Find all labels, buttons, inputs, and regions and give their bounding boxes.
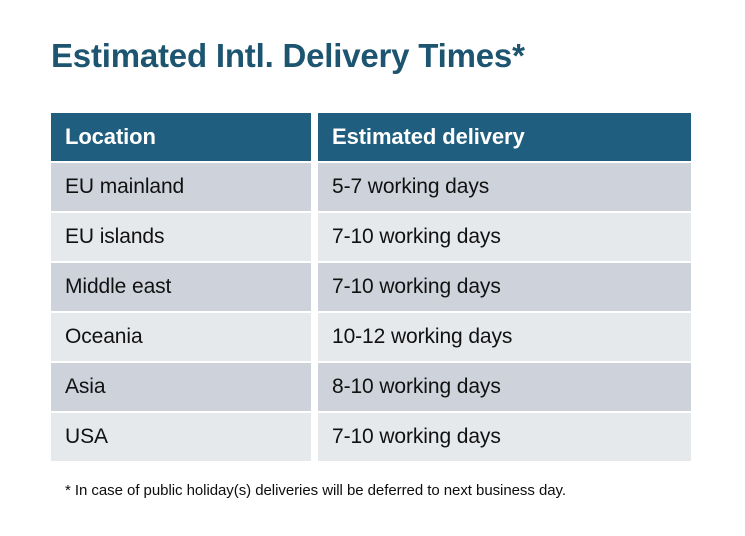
table-row: EU mainland 5-7 working days	[51, 163, 691, 211]
column-divider	[311, 363, 318, 411]
column-header-estimated-delivery: Estimated delivery	[318, 113, 691, 161]
cell-delivery: 7-10 working days	[318, 263, 691, 311]
column-divider	[311, 213, 318, 261]
column-divider	[311, 413, 318, 461]
delivery-times-infographic: Estimated Intl. Delivery Times* Location…	[0, 0, 745, 536]
cell-location: EU mainland	[51, 163, 311, 211]
table-row: Middle east 7-10 working days	[51, 263, 691, 311]
cell-location: EU islands	[51, 213, 311, 261]
table-row: Oceania 10-12 working days	[51, 313, 691, 361]
page-title: Estimated Intl. Delivery Times*	[51, 36, 525, 76]
cell-delivery: 10-12 working days	[318, 313, 691, 361]
table-row: Asia 8-10 working days	[51, 363, 691, 411]
cell-location: Oceania	[51, 313, 311, 361]
table-row: EU islands 7-10 working days	[51, 213, 691, 261]
table-header-row: Location Estimated delivery	[51, 113, 691, 161]
cell-delivery: 8-10 working days	[318, 363, 691, 411]
delivery-times-table: Location Estimated delivery EU mainland …	[51, 113, 691, 461]
cell-delivery: 7-10 working days	[318, 213, 691, 261]
footnote-text: * In case of public holiday(s) deliverie…	[65, 481, 566, 501]
cell-delivery: 5-7 working days	[318, 163, 691, 211]
cell-location: Middle east	[51, 263, 311, 311]
cell-location: USA	[51, 413, 311, 461]
cell-delivery: 7-10 working days	[318, 413, 691, 461]
column-divider	[311, 163, 318, 211]
table-row: USA 7-10 working days	[51, 413, 691, 461]
column-divider	[311, 263, 318, 311]
column-divider	[311, 313, 318, 361]
column-divider	[311, 113, 318, 161]
cell-location: Asia	[51, 363, 311, 411]
column-header-location: Location	[51, 113, 311, 161]
